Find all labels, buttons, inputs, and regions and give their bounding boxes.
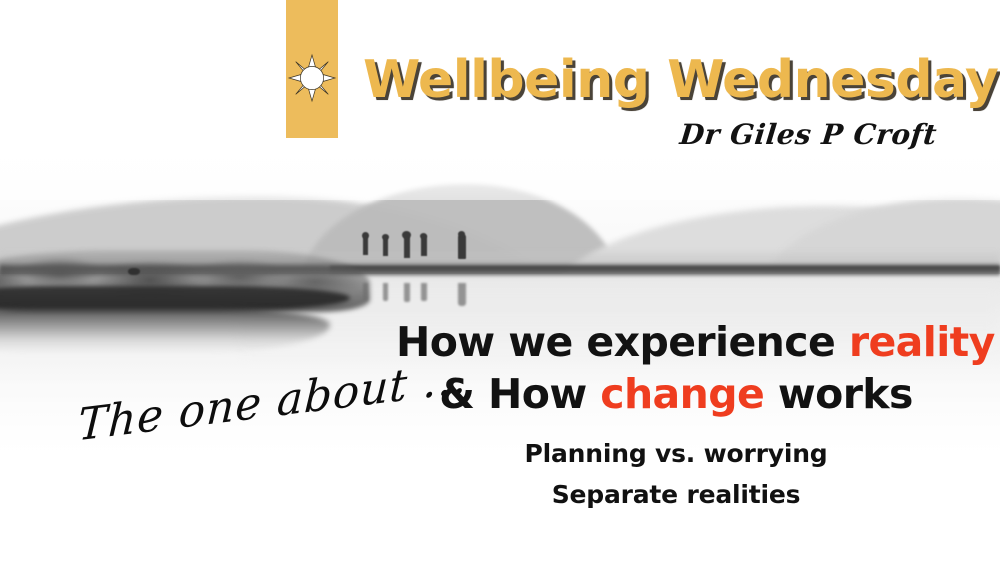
- headline-line-1: How we experience reality: [396, 316, 956, 368]
- far-shoreline-right: [330, 266, 1000, 274]
- headline-highlight-word: reality: [849, 318, 995, 366]
- walking-figure: [458, 231, 465, 237]
- subpoint-list: Planning vs. worrying Separate realities: [396, 434, 956, 515]
- walking-figure: [402, 231, 411, 239]
- walking-figure-reflection: [404, 283, 410, 302]
- reed-bank-dark-edge: [0, 286, 350, 310]
- subpoint-item: Planning vs. worrying: [396, 434, 956, 475]
- headline-highlight-word: change: [600, 370, 764, 418]
- walking-figure: [458, 234, 466, 259]
- headline-text: works: [764, 370, 913, 418]
- sun-icon: [286, 52, 338, 104]
- walking-figure: [362, 232, 369, 239]
- walking-figure: [382, 234, 389, 240]
- headline: How we experience reality & How change w…: [396, 316, 956, 421]
- author-name: Dr Giles P Croft: [678, 118, 938, 151]
- bank-post: [128, 268, 140, 275]
- headline-line-2: & How change works: [396, 368, 956, 420]
- walking-figure: [404, 236, 410, 258]
- walking-figure-reflection: [421, 283, 427, 301]
- page-title: Wellbeing Wednesdays: [363, 50, 1000, 110]
- walking-figure-reflection: [363, 283, 368, 301]
- presentation-slide: Wellbeing Wednesdays Dr Giles P Croft Th…: [0, 0, 1000, 563]
- walking-figure-reflection: [383, 283, 388, 301]
- walking-figure-reflection: [458, 283, 466, 306]
- subpoint-item: Separate realities: [396, 475, 956, 516]
- walking-figure: [420, 233, 427, 239]
- headline-text: & How: [439, 370, 600, 418]
- headline-text: How we experience: [396, 318, 849, 366]
